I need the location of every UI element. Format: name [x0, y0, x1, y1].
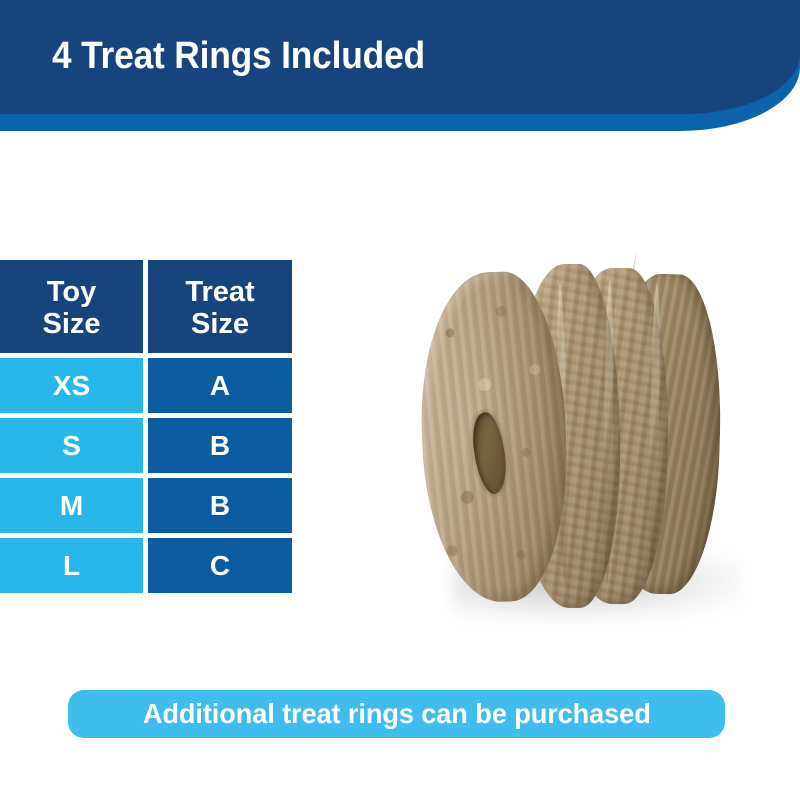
- table-row: L C: [0, 538, 292, 593]
- cell-treat-size: B: [148, 418, 292, 473]
- column-header-toy-size: Toy Size: [0, 260, 143, 353]
- column-header-treat-size: Treat Size: [148, 260, 292, 353]
- cell-treat-size: B: [148, 478, 292, 533]
- column-header-treat-size-line2: Size: [191, 308, 249, 340]
- bottom-callout-label: Additional treat rings can be purchased: [143, 698, 651, 730]
- page-title: 4 Treat Rings Included: [52, 33, 425, 79]
- table-header-row: Toy Size Treat Size: [0, 260, 292, 353]
- treat-ring-stack: [412, 250, 742, 650]
- cell-toy-size: M: [0, 478, 143, 533]
- column-header-treat-size-line1: Treat: [185, 276, 254, 308]
- table-row: S B: [0, 418, 292, 473]
- cell-treat-size: C: [148, 538, 292, 593]
- bottom-callout-banner: Additional treat rings can be purchased: [68, 690, 725, 738]
- treat-rings-product-image: [412, 250, 742, 650]
- column-header-toy-size-line1: Toy: [47, 276, 96, 308]
- cell-toy-size: XS: [0, 358, 143, 413]
- column-header-toy-size-line2: Size: [42, 308, 100, 340]
- table-row: M B: [0, 478, 292, 533]
- cell-treat-size: A: [148, 358, 292, 413]
- cell-toy-size: L: [0, 538, 143, 593]
- size-chart-table: Toy Size Treat Size XS A S B M B L C: [0, 260, 292, 593]
- table-row: XS A: [0, 358, 292, 413]
- cell-toy-size: S: [0, 418, 143, 473]
- header-banner: 4 Treat Rings Included: [0, 0, 800, 131]
